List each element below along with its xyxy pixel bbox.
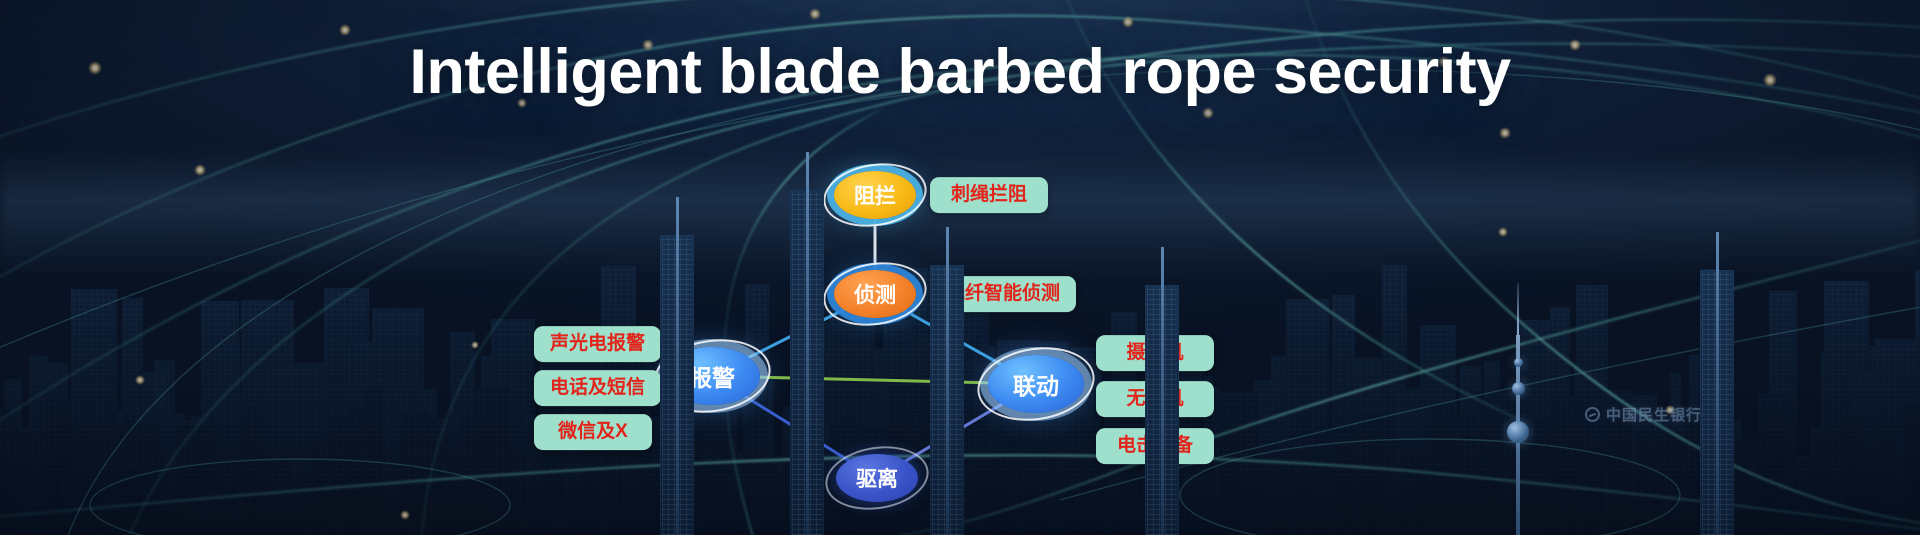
diagram-node-linkage[interactable]: 联动 [988, 355, 1084, 413]
hero-banner: 中国民生银行 Intelligent blade barbed rope sec… [0, 0, 1920, 535]
diagram-chip-right-of-block-0[interactable]: 刺绳拦阻 [930, 177, 1048, 213]
diagram-node-block[interactable]: 阻拦 [834, 171, 916, 219]
diagram-node-label: 侦测 [854, 279, 896, 309]
diagram-chip-left-of-alarm-1[interactable]: 电话及短信 [534, 370, 661, 406]
diagram-node-label: 阻拦 [854, 180, 896, 210]
diagram-chip-left-of-alarm-0[interactable]: 声光电报警 [534, 326, 661, 362]
diagram-node-detect[interactable]: 侦测 [834, 270, 916, 318]
diagram-chip-left-of-alarm-2[interactable]: 微信及X [534, 414, 652, 450]
diagram-node-label: 报警 [689, 359, 735, 393]
diagram-node-label: 驱离 [856, 463, 898, 493]
diagram-node-expel[interactable]: 驱离 [836, 454, 918, 502]
diagram-node-label: 联动 [1013, 367, 1059, 401]
